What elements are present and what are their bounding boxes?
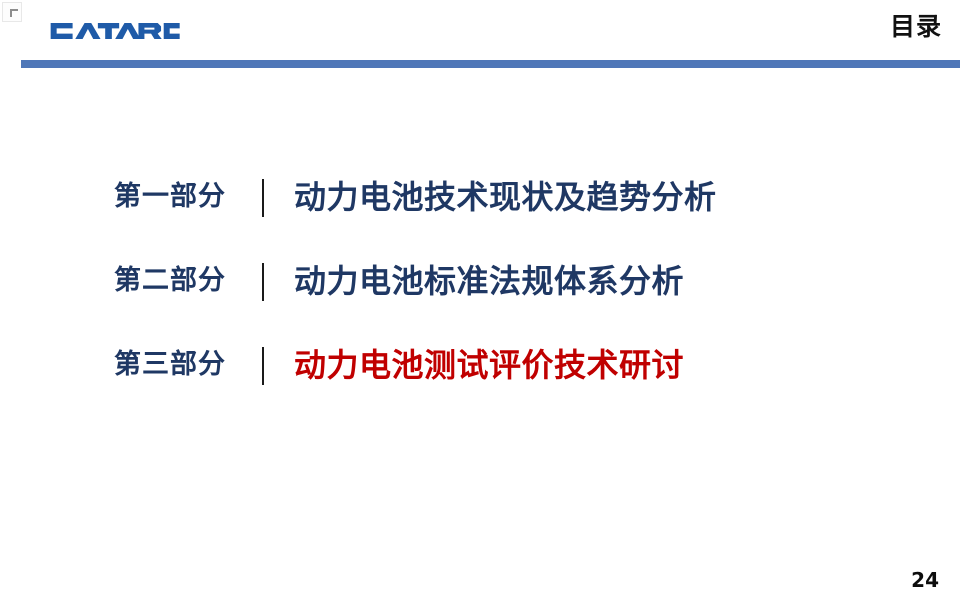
toc-row-divider (262, 263, 264, 301)
toc-section-label: 第一部分 (114, 176, 264, 218)
page-title: 目录 (890, 11, 942, 43)
toc-section-label: 第二部分 (114, 260, 264, 302)
toc-row-divider (262, 347, 264, 385)
header-divider-rule (21, 60, 960, 68)
toc-section-title: 动力电池标准法规体系分析 (294, 257, 684, 305)
toc-row[interactable]: 第三部分 动力电池测试评价技术研讨 (0, 344, 960, 428)
toc-row-divider (262, 179, 264, 217)
toc-section-title: 动力电池技术现状及趋势分析 (294, 173, 717, 221)
toc-row[interactable]: 第二部分 动力电池标准法规体系分析 (0, 260, 960, 344)
slide-header: 目录 (0, 0, 960, 60)
toc-section-label: 第三部分 (114, 344, 264, 386)
table-of-contents: 第一部分 动力电池技术现状及趋势分析 第二部分 动力电池标准法规体系分析 第三部… (0, 176, 960, 428)
catarc-logo (48, 14, 181, 48)
toc-row[interactable]: 第一部分 动力电池技术现状及趋势分析 (0, 176, 960, 260)
toc-section-title: 动力电池测试评价技术研讨 (294, 341, 684, 389)
slide-page-number: 24 (911, 568, 939, 592)
slide-canvas: 目录 第一部分 动力电池技术现状及趋势分析 第二部分 动力电池标准法规体系分析 … (0, 0, 960, 600)
